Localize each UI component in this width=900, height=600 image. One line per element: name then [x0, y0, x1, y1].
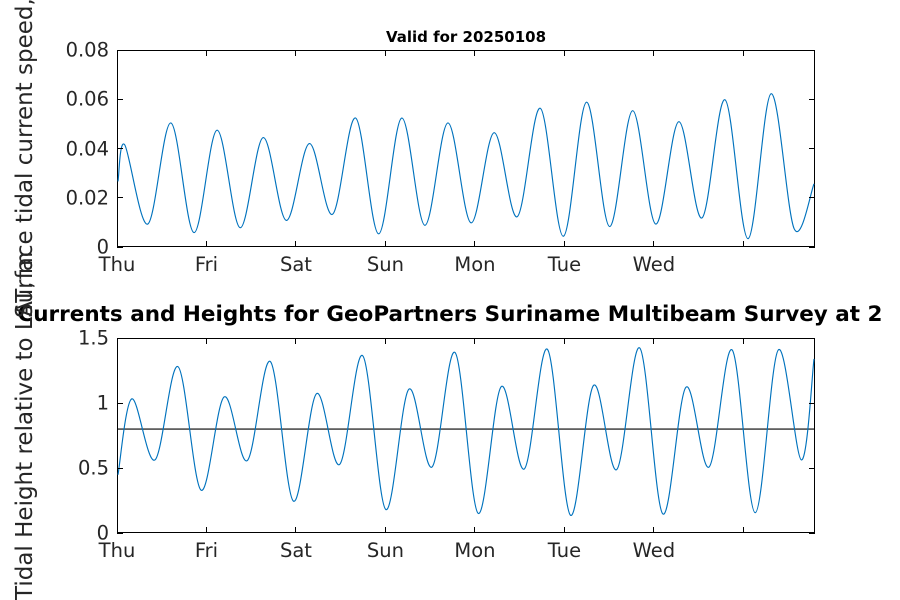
y-tick-top: [117, 99, 123, 100]
x-tick-label-bottom: Fri: [195, 539, 218, 562]
x-tick-bottom-mirror: [743, 338, 744, 344]
y-tick-label-top: 0.06: [66, 88, 109, 111]
x-tick-label-bottom: Tue: [548, 539, 581, 562]
y-tick-top: [117, 197, 123, 198]
x-tick-bottom-mirror: [206, 338, 207, 344]
x-tick-bottom: [743, 527, 744, 533]
x-tick-top-mirror: [653, 50, 654, 56]
x-tick-label-bottom: Sat: [280, 539, 312, 562]
x-tick-label-top: Fri: [195, 253, 218, 276]
x-tick-label-top: Sat: [280, 253, 312, 276]
x-tick-top-mirror: [564, 50, 565, 56]
tidal-height-line: [118, 348, 814, 516]
tidal-height-axes: [117, 338, 815, 533]
x-tick-bottom: [206, 527, 207, 533]
figure-canvas: Valid for 20250108 Currents and Heights …: [0, 0, 900, 600]
y-tick-bottom-mirror: [809, 338, 815, 339]
x-tick-top-mirror: [295, 50, 296, 56]
x-tick-top: [474, 241, 475, 247]
x-tick-top: [385, 241, 386, 247]
x-tick-bottom-mirror: [474, 338, 475, 344]
x-tick-top-mirror: [743, 50, 744, 56]
x-tick-label-top: Tue: [548, 253, 581, 276]
x-tick-top: [743, 241, 744, 247]
x-tick-top-mirror: [385, 50, 386, 56]
y-tick-top: [117, 148, 123, 149]
y-tick-top-mirror: [809, 148, 815, 149]
x-tick-top-mirror: [206, 50, 207, 56]
y-tick-bottom-mirror: [809, 468, 815, 469]
y-tick-label-top: 0.04: [66, 137, 109, 160]
y-tick-top-mirror: [809, 50, 815, 51]
y-tick-bottom-mirror: [809, 403, 815, 404]
x-tick-bottom-mirror: [653, 338, 654, 344]
y-tick-bottom: [117, 338, 123, 339]
x-tick-bottom-mirror: [295, 338, 296, 344]
x-tick-label-top: Sun: [367, 253, 404, 276]
y-tick-label-bottom: 0.5: [78, 457, 109, 480]
subtitle-valid-for: Valid for 20250108: [386, 28, 546, 46]
page-title: Currents and Heights for GeoPartners Sur…: [17, 302, 882, 327]
x-tick-top: [653, 241, 654, 247]
x-tick-bottom: [653, 527, 654, 533]
x-tick-label-bottom: Mon: [454, 539, 495, 562]
y-axis-label-tidal-height: Tidal Height relative to LAT, m: [12, 252, 38, 600]
y-tick-top-mirror: [809, 197, 815, 198]
x-tick-top: [564, 241, 565, 247]
x-tick-label-bottom: Thu: [99, 539, 136, 562]
x-tick-bottom-mirror: [385, 338, 386, 344]
y-tick-bottom: [117, 533, 123, 534]
x-tick-bottom: [295, 527, 296, 533]
x-tick-bottom-mirror: [117, 338, 118, 344]
tidal-height-plot: [118, 339, 814, 532]
x-tick-label-top: Thu: [99, 253, 136, 276]
x-tick-bottom-mirror: [564, 338, 565, 344]
y-tick-label-bottom: 1: [97, 392, 109, 415]
x-tick-top: [117, 241, 118, 247]
x-tick-top: [295, 241, 296, 247]
x-tick-top: [206, 241, 207, 247]
surface-current-line: [118, 94, 814, 239]
y-tick-bottom-mirror: [809, 533, 815, 534]
x-tick-bottom: [474, 527, 475, 533]
x-tick-bottom: [564, 527, 565, 533]
x-tick-label-top: Mon: [454, 253, 495, 276]
y-tick-bottom: [117, 468, 123, 469]
x-tick-bottom: [385, 527, 386, 533]
x-tick-label-bottom: Sun: [367, 539, 404, 562]
y-tick-top: [117, 50, 123, 51]
surface-current-axes: [117, 50, 815, 247]
x-tick-label-top: Wed: [633, 253, 676, 276]
surface-current-plot: [118, 51, 814, 246]
y-tick-bottom: [117, 403, 123, 404]
y-tick-label-bottom: 1.5: [78, 327, 109, 350]
y-tick-label-top: 0.08: [66, 39, 109, 62]
x-tick-top-mirror: [117, 50, 118, 56]
y-tick-label-top: 0.02: [66, 186, 109, 209]
x-tick-label-bottom: Wed: [633, 539, 676, 562]
x-tick-top-mirror: [474, 50, 475, 56]
y-tick-top-mirror: [809, 99, 815, 100]
x-tick-bottom: [117, 527, 118, 533]
y-tick-top: [117, 247, 123, 248]
y-tick-top-mirror: [809, 247, 815, 248]
